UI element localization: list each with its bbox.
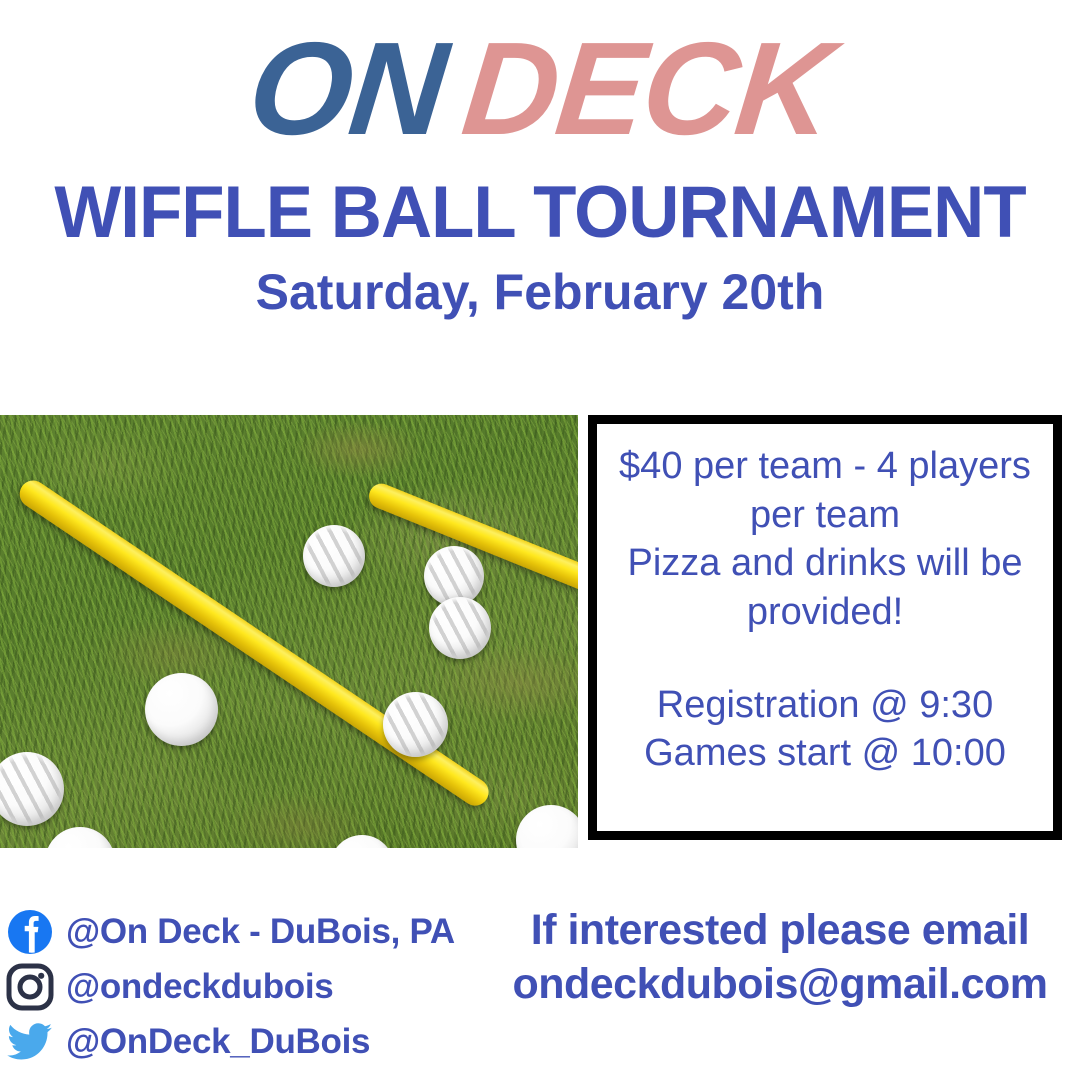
detail-line-price: $40 per team - 4 players <box>597 442 1053 491</box>
footer: @On Deck - DuBois, PA @ondeckdubois @OnD… <box>0 856 1080 1080</box>
schedule-registration: Registration @ 9:30 <box>597 681 1053 730</box>
social-handle-facebook: @On Deck - DuBois, PA <box>66 912 455 952</box>
social-links: @On Deck - DuBois, PA @ondeckdubois @OnD… <box>4 904 504 1069</box>
instagram-icon[interactable] <box>4 961 56 1013</box>
wiffle-ball <box>429 597 491 659</box>
brand-logo: ONDECK <box>0 0 1080 157</box>
wiffle-ball <box>383 692 448 757</box>
logo-word-on: ON <box>243 22 451 157</box>
contact-prompt: If interested please email <box>480 904 1080 958</box>
event-date: Saturday, February 20th <box>0 265 1080 320</box>
wiffle-ball <box>145 673 218 746</box>
detail-spacer <box>597 637 1053 681</box>
social-handle-instagram: @ondeckdubois <box>66 967 333 1007</box>
social-handle-twitter: @OnDeck_DuBois <box>66 1022 370 1062</box>
event-details-box: $40 per team - 4 players per team Pizza … <box>588 415 1062 840</box>
contact-info: If interested please email ondeckdubois@… <box>480 904 1080 1012</box>
twitter-icon[interactable] <box>4 1016 56 1068</box>
social-item-instagram[interactable]: @ondeckdubois <box>4 959 504 1014</box>
facebook-icon[interactable] <box>4 906 56 958</box>
wiffle-ball <box>303 525 365 587</box>
detail-line-team: per team <box>597 491 1053 540</box>
detail-line-food: Pizza and drinks will be <box>597 539 1053 588</box>
page-title: WIFFLE BALL TOURNAMENT <box>16 175 1064 252</box>
grass-dry-patches <box>0 415 578 848</box>
social-item-twitter[interactable]: @OnDeck_DuBois <box>4 1014 504 1069</box>
logo-word-deck: DECK <box>457 22 837 157</box>
contact-email[interactable]: ondeckdubois@gmail.com <box>480 958 1080 1012</box>
wiffle-ball-photo <box>0 415 578 848</box>
detail-line-provided: provided! <box>597 588 1053 637</box>
middle-row: $40 per team - 4 players per team Pizza … <box>0 415 1080 848</box>
social-item-facebook[interactable]: @On Deck - DuBois, PA <box>4 904 504 959</box>
schedule-games-start: Games start @ 10:00 <box>597 729 1053 778</box>
